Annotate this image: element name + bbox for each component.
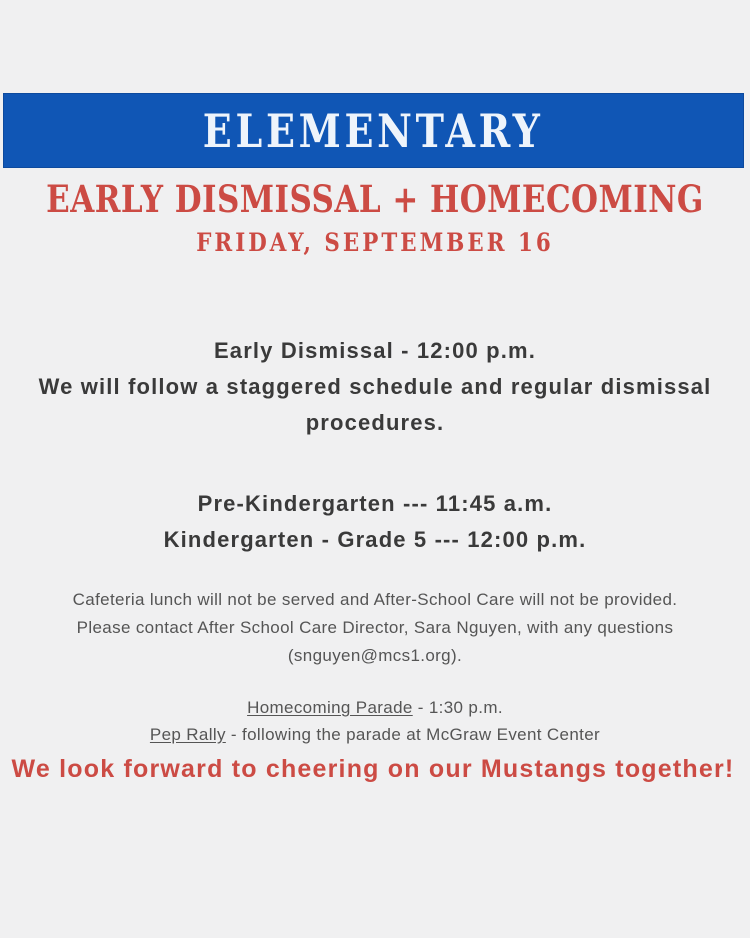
- event-pep-rally: Pep Rally - following the parade at McGr…: [0, 721, 750, 748]
- flyer-canvas: ELEMENTARY EARLY DISMISSAL + HOMECOMING …: [0, 0, 750, 938]
- schedule-row-k5: Kindergarten - Grade 5 --- 12:00 p.m.: [0, 522, 750, 558]
- closing-message: We look forward to cheering on our Musta…: [12, 752, 735, 786]
- event-pep-rally-name: Pep Rally: [150, 725, 226, 744]
- headline-section: EARLY DISMISSAL + HOMECOMING FRIDAY, SEP…: [0, 180, 750, 258]
- event-date: FRIDAY, SEPTEMBER 16: [19, 227, 732, 258]
- grade-schedule-section: Pre-Kindergarten --- 11:45 a.m. Kinderga…: [0, 486, 750, 558]
- note-contact: Please contact After School Care Directo…: [0, 614, 750, 642]
- dismissal-section: Early Dismissal - 12:00 p.m. We will fol…: [0, 333, 750, 441]
- event-parade: Homecoming Parade - 1:30 p.m.: [0, 694, 750, 721]
- notes-section: Cafeteria lunch will not be served and A…: [0, 586, 750, 670]
- banner-title: ELEMENTARY: [203, 108, 544, 154]
- schedule-row-prek: Pre-Kindergarten --- 11:45 a.m.: [0, 486, 750, 522]
- note-email: (snguyen@mcs1.org).: [0, 642, 750, 670]
- events-section: Homecoming Parade - 1:30 p.m. Pep Rally …: [0, 694, 750, 748]
- event-headline: EARLY DISMISSAL + HOMECOMING: [26, 180, 724, 220]
- event-parade-name: Homecoming Parade: [247, 698, 413, 717]
- dismissal-procedure: We will follow a staggered schedule and …: [0, 369, 750, 441]
- event-pep-rally-detail: - following the parade at McGraw Event C…: [226, 725, 600, 744]
- note-cafeteria: Cafeteria lunch will not be served and A…: [0, 586, 750, 614]
- closing-section: We look forward to cheering on our Musta…: [0, 752, 750, 786]
- event-parade-detail: - 1:30 p.m.: [413, 698, 503, 717]
- dismissal-time: Early Dismissal - 12:00 p.m.: [0, 333, 750, 369]
- elementary-banner: ELEMENTARY: [3, 93, 744, 168]
